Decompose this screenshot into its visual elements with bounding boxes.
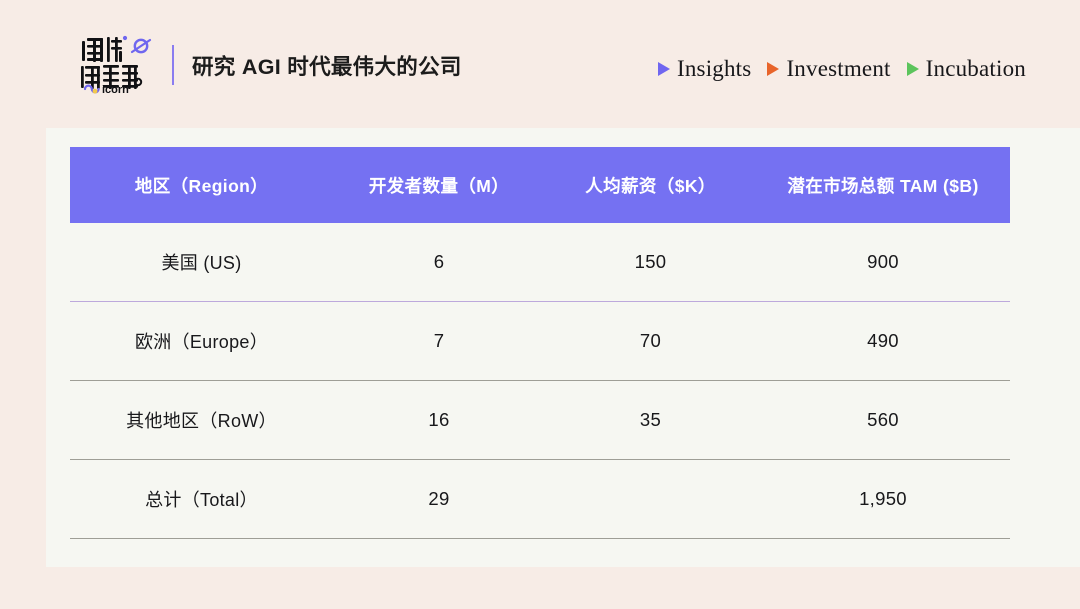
table-header-row: 地区（Region） 开发者数量（M） 人均薪资（$K） 潜在市场总额 TAM … [70,147,1010,223]
logo-sub-text: icorn [102,84,129,95]
haiwai-dujiaoshou-logo-icon[interactable]: icorn [78,33,156,95]
column-header-region: 地区（Region） [70,147,333,223]
nav-item-insights-label: Insights [677,56,751,82]
cell-tam: 490 [756,302,1010,381]
cell-developers: 7 [333,302,545,381]
cell-tam: 1,950 [756,460,1010,539]
cell-tam: 560 [756,381,1010,460]
cell-developers: 6 [333,223,545,302]
column-header-developers: 开发者数量（M） [333,147,545,223]
cell-region: 其他地区（RoW） [70,381,333,460]
table-row: 美国 (US) 6 150 900 [70,223,1010,302]
nav-item-incubation[interactable]: Incubation [907,56,1026,82]
cell-salary: 150 [545,223,756,302]
page-header: icorn 研究 AGI 时代最伟大的公司 Insights Investmen… [0,0,1080,128]
cell-salary [545,460,756,539]
page-title: 研究 AGI 时代最伟大的公司 [192,50,462,81]
play-triangle-icon [658,62,670,76]
cell-tam: 900 [756,223,1010,302]
table-row-total: 总计（Total） 29 1,950 [70,460,1010,539]
cell-region: 总计（Total） [70,460,333,539]
brand-divider [172,45,174,85]
brand-block: icorn 研究 AGI 时代最伟大的公司 [78,33,462,95]
column-header-salary: 人均薪资（$K） [545,147,756,223]
nav-item-investment-label: Investment [786,56,890,82]
nav-item-incubation-label: Incubation [926,56,1026,82]
nav-item-insights[interactable]: Insights [658,56,751,82]
nav-item-investment[interactable]: Investment [767,56,890,82]
column-header-tam: 潜在市场总额 TAM ($B) [756,147,1010,223]
play-triangle-icon [767,62,779,76]
cell-salary: 70 [545,302,756,381]
region-developer-tam-table: 地区（Region） 开发者数量（M） 人均薪资（$K） 潜在市场总额 TAM … [70,147,1010,539]
table-row: 其他地区（RoW） 16 35 560 [70,381,1010,460]
cell-developers: 16 [333,381,545,460]
header-nav: Insights Investment Incubation [658,56,1026,82]
cell-region: 美国 (US) [70,223,333,302]
play-triangle-icon [907,62,919,76]
cell-region: 欧洲（Europe） [70,302,333,381]
content-card: 地区（Region） 开发者数量（M） 人均薪资（$K） 潜在市场总额 TAM … [46,128,1080,567]
table-row: 欧洲（Europe） 7 70 490 [70,302,1010,381]
cell-salary: 35 [545,381,756,460]
cell-developers: 29 [333,460,545,539]
